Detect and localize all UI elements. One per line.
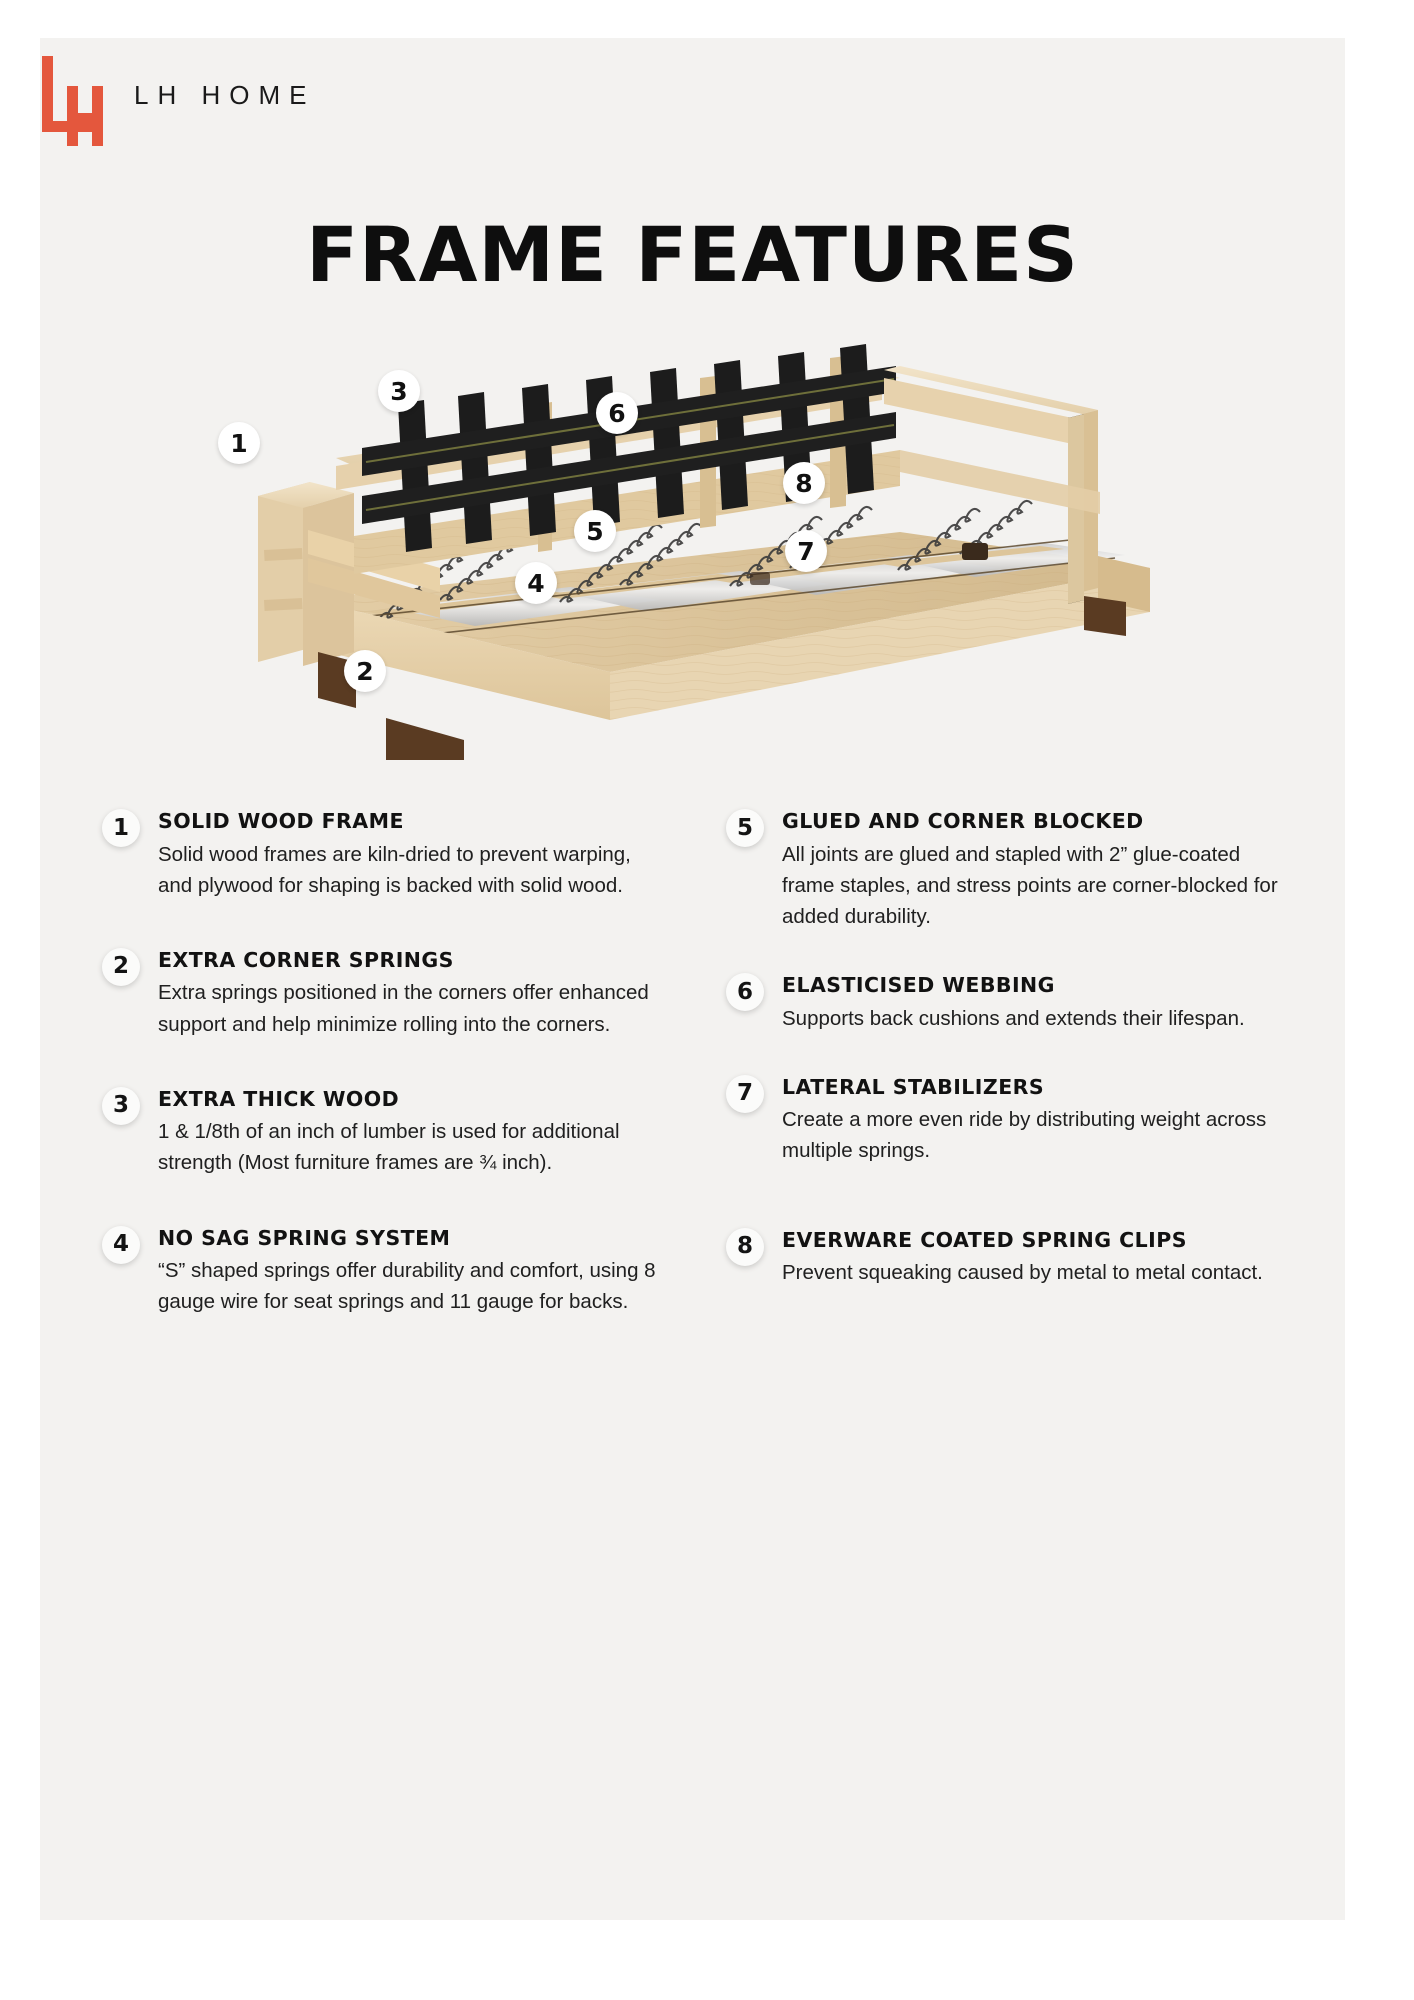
photo-callout-6[interactable]: 6 [596, 392, 638, 434]
feature-title: EVERWARE COATED SPRING CLIPS [782, 1229, 1292, 1252]
feature-description: “S” shaped springs offer durability and … [158, 1255, 668, 1317]
feature-description: Create a more even ride by distributing … [782, 1104, 1292, 1166]
feature-description: All joints are glued and stapled with 2”… [782, 839, 1292, 932]
feature-title: EXTRA CORNER SPRINGS [158, 949, 668, 972]
feature-item: 7 LATERAL STABILIZERS Create a more even… [726, 1074, 1292, 1167]
feature-description: 1 & 1/8th of an inch of lumber is used f… [158, 1116, 668, 1178]
feature-number-badge: 4 [102, 1226, 140, 1264]
brand-header: LH HOME [40, 56, 315, 134]
feature-column-right: 5 GLUED AND CORNER BLOCKED All joints ar… [726, 808, 1292, 1363]
sofa-frame-photo: 1 2 3 4 5 6 7 8 [140, 300, 1250, 760]
brand-wordmark: LH HOME [134, 80, 315, 111]
feature-item: 6 ELASTICISED WEBBING Supports back cush… [726, 972, 1292, 1034]
feature-number-badge: 7 [726, 1075, 764, 1113]
feature-item: 8 EVERWARE COATED SPRING CLIPS Prevent s… [726, 1227, 1292, 1289]
feature-title: GLUED AND CORNER BLOCKED [782, 810, 1292, 833]
feature-item: 3 EXTRA THICK WOOD 1 & 1/8th of an inch … [102, 1086, 668, 1179]
feature-item: 5 GLUED AND CORNER BLOCKED All joints ar… [726, 808, 1292, 932]
feature-title: ELASTICISED WEBBING [782, 974, 1292, 997]
feature-item: 2 EXTRA CORNER SPRINGS Extra springs pos… [102, 947, 668, 1040]
photo-callout-2[interactable]: 2 [344, 650, 386, 692]
feature-number-badge: 1 [102, 809, 140, 847]
feature-number-badge: 8 [726, 1228, 764, 1266]
feature-title: SOLID WOOD FRAME [158, 810, 668, 833]
feature-number-badge: 2 [102, 948, 140, 986]
feature-number-badge: 3 [102, 1087, 140, 1125]
infographic-page: LH HOME FRAME FEATURES [40, 38, 1345, 1920]
feature-title: LATERAL STABILIZERS [782, 1076, 1292, 1099]
photo-callout-8[interactable]: 8 [783, 462, 825, 504]
feature-item: 4 NO SAG SPRING SYSTEM “S” shaped spring… [102, 1225, 668, 1318]
feature-number-badge: 5 [726, 809, 764, 847]
feature-description: Solid wood frames are kiln-dried to prev… [158, 839, 668, 901]
feature-column-left: 1 SOLID WOOD FRAME Solid wood frames are… [102, 808, 668, 1363]
photo-callout-3[interactable]: 3 [378, 370, 420, 412]
feature-description: Prevent squeaking caused by metal to met… [782, 1257, 1292, 1288]
photo-callout-1[interactable]: 1 [218, 422, 260, 464]
feature-title: NO SAG SPRING SYSTEM [158, 1227, 668, 1250]
page-title: FRAME FEATURES [40, 210, 1345, 299]
feature-title: EXTRA THICK WOOD [158, 1088, 668, 1111]
feature-description: Supports back cushions and extends their… [782, 1003, 1292, 1034]
feature-number-badge: 6 [726, 973, 764, 1011]
feature-item: 1 SOLID WOOD FRAME Solid wood frames are… [102, 808, 668, 901]
photo-callout-7[interactable]: 7 [785, 530, 827, 572]
photo-callout-4[interactable]: 4 [515, 562, 557, 604]
lh-monogram-icon [40, 56, 112, 134]
feature-list: 1 SOLID WOOD FRAME Solid wood frames are… [102, 808, 1292, 1363]
feature-description: Extra springs positioned in the corners … [158, 977, 668, 1039]
photo-callout-5[interactable]: 5 [574, 510, 616, 552]
